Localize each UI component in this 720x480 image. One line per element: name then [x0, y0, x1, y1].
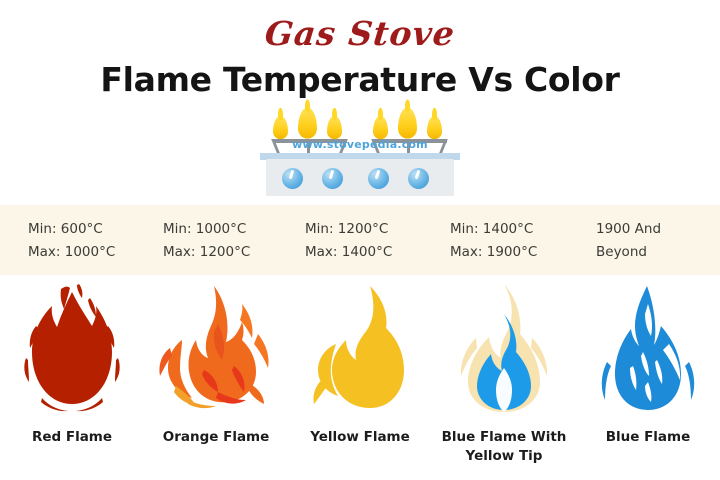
- min-temperature-label: Min: 1400°C: [450, 218, 537, 241]
- logo-flame-icon: [373, 116, 388, 140]
- temperature-cell-blue-flame: 1900 And Beyond: [596, 218, 661, 264]
- logo-flame-icon: [327, 116, 342, 140]
- flame-column-yellow-flame: [288, 282, 432, 420]
- blue-flame-with-yellow-tip-icon: [452, 282, 556, 414]
- temperature-cell-yellow-flame: Min: 1200°C Max: 1400°C: [305, 218, 392, 264]
- stove-knob-icon: [408, 168, 429, 189]
- flame-caption-yellow-flame: Yellow Flame: [285, 428, 435, 447]
- flame-column-blue-flame: [576, 282, 720, 420]
- flame-caption-blue-flame-with-yellow-tip: Blue Flame With Yellow Tip: [429, 428, 579, 466]
- flame-caption-red-flame: Red Flame: [0, 428, 147, 447]
- max-temperature-label: Max: 1900°C: [450, 241, 537, 264]
- temperature-cell-blue-flame-with-yellow-tip: Min: 1400°C Max: 1900°C: [450, 218, 537, 264]
- max-temperature-label: Beyond: [596, 241, 661, 264]
- page-title: Flame Temperature Vs Color: [0, 60, 720, 99]
- flame-column-orange-flame: [144, 282, 288, 420]
- max-temperature-label: Max: 1400°C: [305, 241, 392, 264]
- logo-flame-icon: [298, 107, 317, 138]
- flame-illustration-row: [0, 282, 720, 420]
- flame-caption-blue-flame: Blue Flame: [573, 428, 720, 447]
- temperature-band: Min: 600°C Max: 1000°C Min: 1000°C Max: …: [0, 205, 720, 275]
- stove-knob-row: [282, 168, 442, 190]
- flame-column-red-flame: [0, 282, 144, 420]
- gas-stove-logo: www.stovepedia.com: [260, 108, 460, 196]
- script-subtitle: Gas Stove: [0, 14, 720, 53]
- temperature-cell-orange-flame: Min: 1000°C Max: 1200°C: [163, 218, 250, 264]
- min-temperature-label: 1900 And: [596, 218, 661, 241]
- logo-flame-icon: [398, 107, 417, 138]
- site-watermark: www.stovepedia.com: [260, 138, 460, 151]
- stove-knob-icon: [282, 168, 303, 189]
- flame-caption-orange-flame: Orange Flame: [141, 428, 291, 447]
- stove-knob-icon: [368, 168, 389, 189]
- orange-flame-icon: [158, 282, 274, 414]
- yellow-flame-icon: [310, 282, 410, 414]
- max-temperature-label: Max: 1200°C: [163, 241, 250, 264]
- min-temperature-label: Min: 1000°C: [163, 218, 250, 241]
- max-temperature-label: Max: 1000°C: [28, 241, 115, 264]
- stove-knob-icon: [322, 168, 343, 189]
- flame-column-blue-flame-with-yellow-tip: [432, 282, 576, 420]
- min-temperature-label: Min: 600°C: [28, 218, 115, 241]
- temperature-cell-red-flame: Min: 600°C Max: 1000°C: [28, 218, 115, 264]
- red-flame-icon: [20, 282, 124, 414]
- flame-caption-row: Red Flame Orange Flame Yellow Flame Blue…: [0, 428, 720, 480]
- logo-flame-icon: [273, 116, 288, 140]
- logo-flame-icon: [427, 116, 442, 140]
- blue-flame-icon: [599, 282, 697, 414]
- min-temperature-label: Min: 1200°C: [305, 218, 392, 241]
- infographic-canvas: Gas Stove Flame Temperature Vs Color www…: [0, 0, 720, 480]
